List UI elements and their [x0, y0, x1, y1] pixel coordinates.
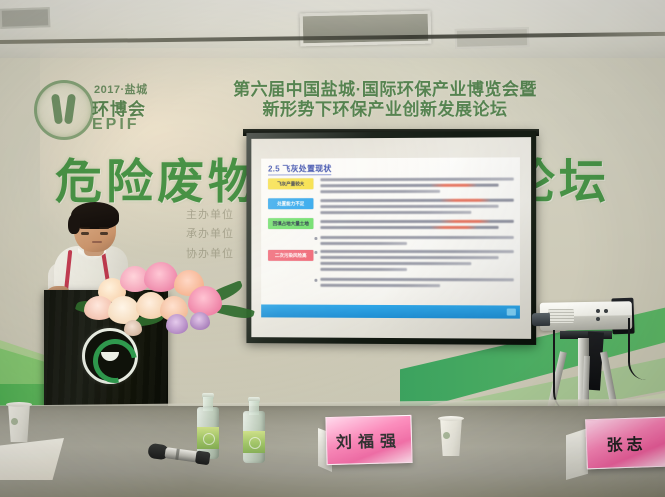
- slide-bullet-2: [320, 250, 513, 274]
- slide-bullet-1: [320, 236, 513, 248]
- ceiling-vent-left: [0, 7, 50, 29]
- screen-surface: 2.5 飞灰处置现状 飞灰产量较大 处置能力不足 回填占地大量土地 二次污染风险…: [251, 137, 531, 339]
- slide-footer-badge: [507, 309, 516, 316]
- projector-power-cable: [628, 318, 646, 380]
- slide-tag-3: 回填占地大量土地: [268, 218, 313, 229]
- logo-emblem-icon: [34, 80, 94, 140]
- speaker-brow-right: [99, 227, 109, 229]
- organizer-line-3: 协办单位: [186, 245, 234, 264]
- slide-paragraph-2: [320, 199, 513, 217]
- backdrop-organizer-lines: 主办单位 承办单位 协办单位: [186, 206, 234, 264]
- slide-title: 2.5 飞灰处置现状: [268, 163, 332, 174]
- projector-vent-grille: [548, 309, 574, 323]
- organizer-line-1: 主办单位: [186, 206, 234, 225]
- projection-screen: 2.5 飞灰处置现状 飞灰产量较大 处置能力不足 回填占地大量土地 二次污染风险…: [246, 131, 536, 345]
- slide-footer-bar: [261, 304, 520, 318]
- speaker-brow-left: [80, 227, 90, 229]
- presentation-slide: 2.5 飞灰处置现状 飞灰产量较大 处置能力不足 回填占地大量土地 二次污染风险…: [261, 157, 520, 318]
- paper-cup-left-logo-icon: [11, 418, 18, 425]
- paper-cup-right-rim: [438, 416, 464, 421]
- main-title-left: 危险废物: [55, 143, 259, 212]
- slide-tag-4: 二次污染风险高: [268, 250, 313, 261]
- conference-photo: 2017·盐城 环博会 EPIF 第六届中国盐城·国际环保产业博览会暨 新形势下…: [0, 0, 665, 497]
- paper-cup-left-rim: [6, 402, 32, 407]
- water-bottle-2: [243, 397, 265, 463]
- ceiling: [0, 0, 665, 62]
- microphone-tail: [195, 450, 211, 465]
- event-logo: 2017·盐城 环博会 EPIF: [34, 78, 160, 140]
- slide-title-underline: [268, 174, 331, 175]
- backdrop-headline: 第六届中国盐城·国际环保产业博览会暨 新形势下环保产业创新发展论坛: [150, 80, 620, 120]
- flower-arrangement: [80, 262, 245, 340]
- speaker-mouth: [92, 241, 102, 243]
- headline-line-2: 新形势下环保产业创新发展论坛: [150, 100, 620, 120]
- headline-line-1: 第六届中国盐城·国际环保产业博览会暨: [150, 80, 620, 100]
- organizer-line-2: 承办单位: [186, 225, 234, 244]
- nameplate-2-stand: [566, 428, 588, 480]
- nameplate-1: 刘福强: [325, 415, 412, 465]
- projector-lens-icon: [532, 313, 550, 326]
- slide-tag-2: 处置能力不足: [268, 198, 313, 209]
- slide-paragraph-1: [320, 178, 513, 197]
- paper-cup-right-logo-icon: [443, 432, 450, 439]
- bottle-label-2: [243, 431, 265, 453]
- speaker-hair-side: [68, 214, 80, 234]
- logo-name-en: EPIF: [92, 116, 140, 134]
- projector-button-3[interactable]: [596, 317, 600, 321]
- slide-tag-1: 飞灰产量较大: [268, 178, 313, 189]
- nameplate-2: 张志: [585, 417, 665, 470]
- speaker-eye-left: [81, 232, 89, 235]
- ceiling-air-vent-icon: [300, 11, 432, 47]
- projector-button-2[interactable]: [604, 309, 608, 313]
- slide-bullet-3: [320, 278, 513, 291]
- slide-paragraph-3: [320, 220, 513, 232]
- projector-button-1[interactable]: [596, 309, 600, 313]
- speaker-eye-right: [100, 232, 108, 235]
- bottle-label-1: [197, 427, 219, 449]
